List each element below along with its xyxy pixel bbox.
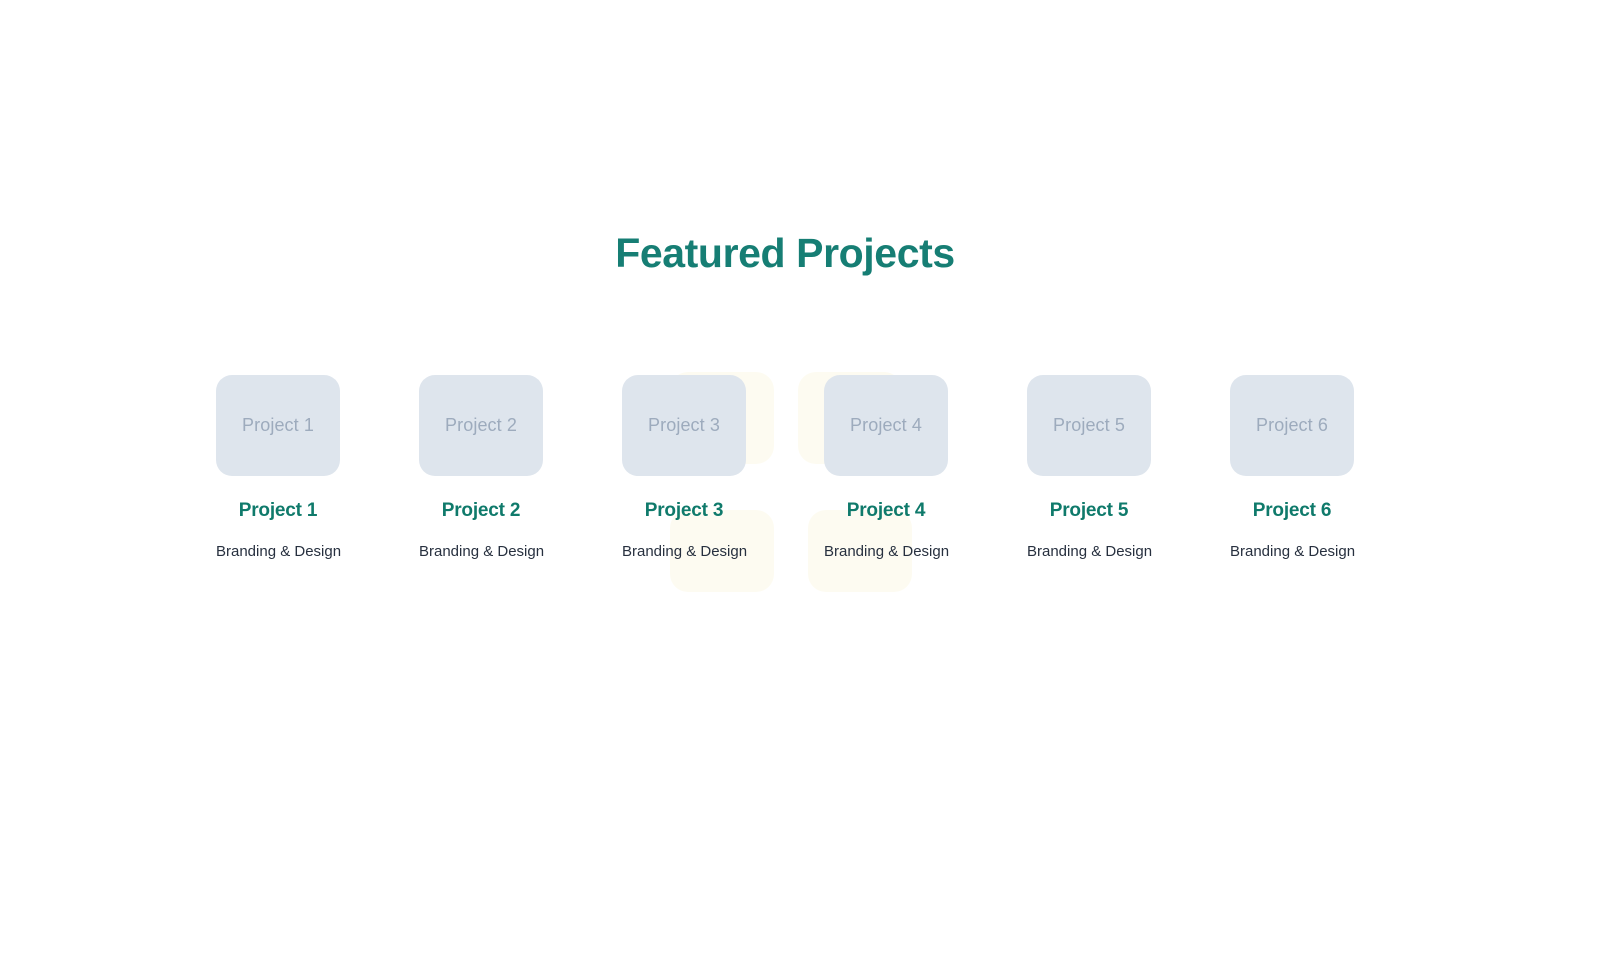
project-name[interactable]: Project 2 (419, 499, 543, 523)
project-name[interactable]: Project 4 (824, 499, 948, 523)
project-name[interactable]: Project 3 (622, 499, 746, 523)
project-thumbnail[interactable]: Project 6 (1230, 375, 1354, 476)
featured-projects-page: Featured Projects Project 1 Project 1 Br… (0, 0, 1600, 978)
project-category: Branding & Design (1230, 542, 1354, 562)
project-thumbnail-label: Project 2 (445, 415, 517, 436)
project-card[interactable]: Project 2 Project 2 Branding & Design (419, 372, 543, 562)
project-thumbnail[interactable]: Project 1 (216, 375, 340, 476)
project-card[interactable]: Project 5 Project 5 Branding & Design (1027, 372, 1151, 562)
project-thumbnail-label: Project 1 (242, 415, 314, 436)
project-name[interactable]: Project 5 (1027, 499, 1151, 523)
page-title: Featured Projects (0, 228, 1570, 278)
project-card[interactable]: Project 6 Project 6 Branding & Design (1230, 372, 1354, 562)
project-category: Branding & Design (622, 542, 746, 562)
project-thumbnail[interactable]: Project 4 (824, 375, 948, 476)
project-thumbnail-label: Project 4 (850, 415, 922, 436)
project-name[interactable]: Project 6 (1230, 499, 1354, 523)
project-thumbnail-label: Project 3 (648, 415, 720, 436)
project-card[interactable]: Project 1 Project 1 Branding & Design (216, 372, 340, 562)
project-thumbnail[interactable]: Project 5 (1027, 375, 1151, 476)
project-category: Branding & Design (216, 542, 340, 562)
project-thumbnail[interactable]: Project 2 (419, 375, 543, 476)
projects-grid: Project 1 Project 1 Branding & Design Pr… (216, 372, 1381, 602)
project-thumbnail-label: Project 5 (1053, 415, 1125, 436)
project-category: Branding & Design (824, 542, 948, 562)
project-category: Branding & Design (1027, 542, 1151, 562)
project-card[interactable]: Project 3 Project 3 Branding & Design (622, 372, 746, 562)
project-card[interactable]: Project 4 Project 4 Branding & Design (824, 372, 948, 562)
project-category: Branding & Design (419, 542, 543, 562)
project-thumbnail-label: Project 6 (1256, 415, 1328, 436)
project-name[interactable]: Project 1 (216, 499, 340, 523)
project-thumbnail[interactable]: Project 3 (622, 375, 746, 476)
